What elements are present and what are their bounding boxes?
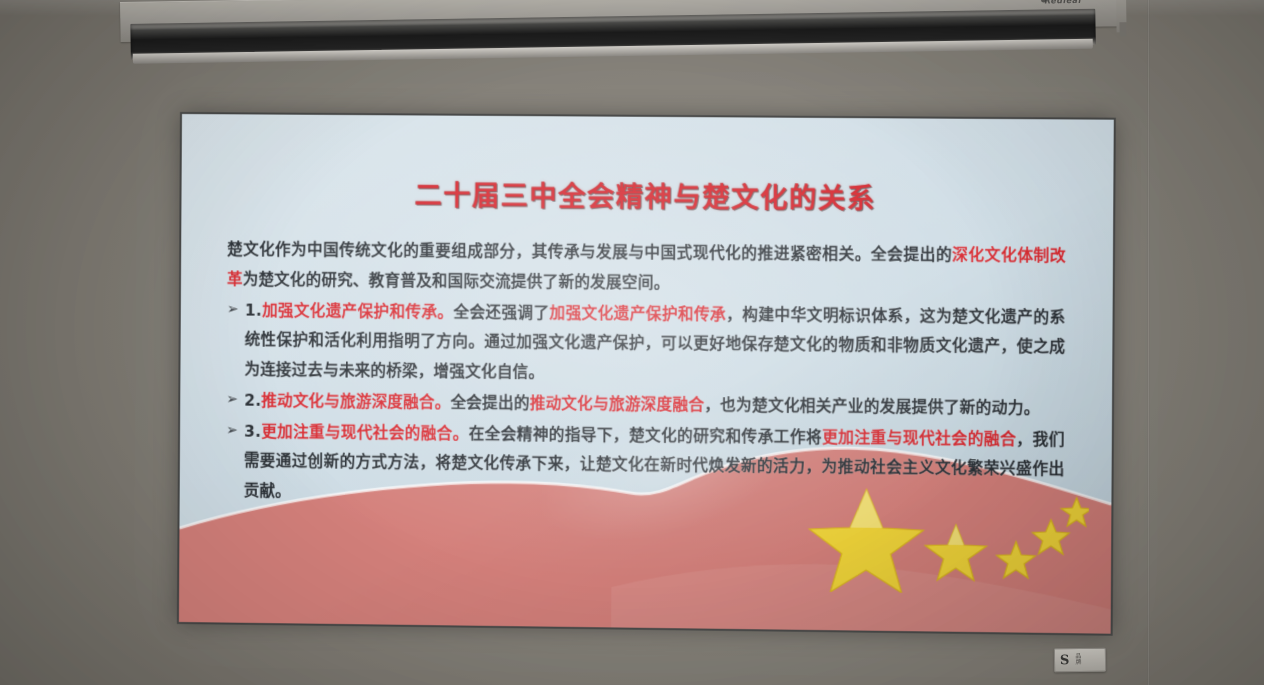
bullet-arrow-icon: ➢ bbox=[226, 417, 238, 444]
wall-plate-sign: S 品 牌 bbox=[1054, 648, 1106, 673]
body-text: ，也为楚文化相关产业的发展提供了新的动力。 bbox=[704, 396, 1040, 417]
body-text: 在全会精神的指导下，楚文化的研究和传承工作将 bbox=[469, 424, 823, 446]
body-text: 全会还强调了 bbox=[453, 303, 549, 322]
slide-content: 二十届三中全会精神与楚文化的关系 楚文化作为中国传统文化的重要组成部分，其传承与… bbox=[180, 114, 1114, 516]
star-small-1 bbox=[996, 541, 1035, 578]
body-text: 全会提出的 bbox=[450, 393, 529, 412]
highlighted-text: 推动文化与旅游深度融合。 bbox=[261, 392, 450, 412]
star-small-2 bbox=[1032, 520, 1069, 555]
bullet-arrow-icon: ➢ bbox=[227, 296, 239, 323]
slide-title: 二十届三中全会精神与楚文化的关系 bbox=[227, 172, 1066, 217]
wall-seam bbox=[1147, 0, 1150, 685]
casing-brand-label: Redleaf bbox=[1045, 0, 1083, 5]
highlighted-text: 推动文化与旅游深度融合 bbox=[530, 394, 705, 414]
classroom-scene: Redleaf bbox=[0, 0, 1264, 685]
highlighted-text: 加强文化遗产保护和传承 bbox=[549, 304, 726, 324]
casing-bracket bbox=[1119, 22, 1126, 36]
intro-paragraph: 楚文化作为中国传统文化的重要组成部分，其传承与发展与中国式现代化的推进紧密相关。… bbox=[227, 235, 1066, 302]
bullet-item: ➢1.加强文化遗产保护和传承。全会还强调了加强文化遗产保护和传承，构建中华文明标… bbox=[226, 296, 1065, 393]
highlighted-text: 更加注重与现代社会的融合。 bbox=[261, 422, 469, 442]
highlighted-text: 更加注重与现代社会的融合 bbox=[822, 428, 1016, 448]
slide-canvas: 二十届三中全会精神与楚文化的关系 楚文化作为中国传统文化的重要组成部分，其传承与… bbox=[179, 114, 1114, 634]
plate-logo-icon: S bbox=[1060, 654, 1070, 667]
highlighted-text: 加强文化遗产保护和传承。 bbox=[262, 301, 454, 321]
bullet-arrow-icon: ➢ bbox=[226, 386, 238, 413]
bullet-item: ➢3.更加注重与现代社会的融合。在全会精神的指导下，楚文化的研究和传承工作将更加… bbox=[226, 417, 1065, 516]
body-text: 楚文化作为中国传统文化的重要组成部分，其传承与发展与中国式现代化的推进紧密相关。… bbox=[227, 240, 952, 264]
body-text: 3. bbox=[244, 422, 261, 440]
body-text: 为楚文化的研究、教育普及和国际交流提供了新的发展空间。 bbox=[243, 270, 670, 292]
plate-code: 品 牌 bbox=[1075, 654, 1081, 667]
body-text: 2. bbox=[244, 391, 261, 409]
body-text: 1. bbox=[245, 301, 262, 319]
projected-slide: 二十届三中全会精神与楚文化的关系 楚文化作为中国传统文化的重要组成部分，其传承与… bbox=[179, 114, 1114, 634]
slide-paragraphs: 楚文化作为中国传统文化的重要组成部分，其传承与发展与中国式现代化的推进紧密相关。… bbox=[226, 235, 1066, 515]
projector-screen-casing: Redleaf bbox=[120, 0, 1121, 70]
